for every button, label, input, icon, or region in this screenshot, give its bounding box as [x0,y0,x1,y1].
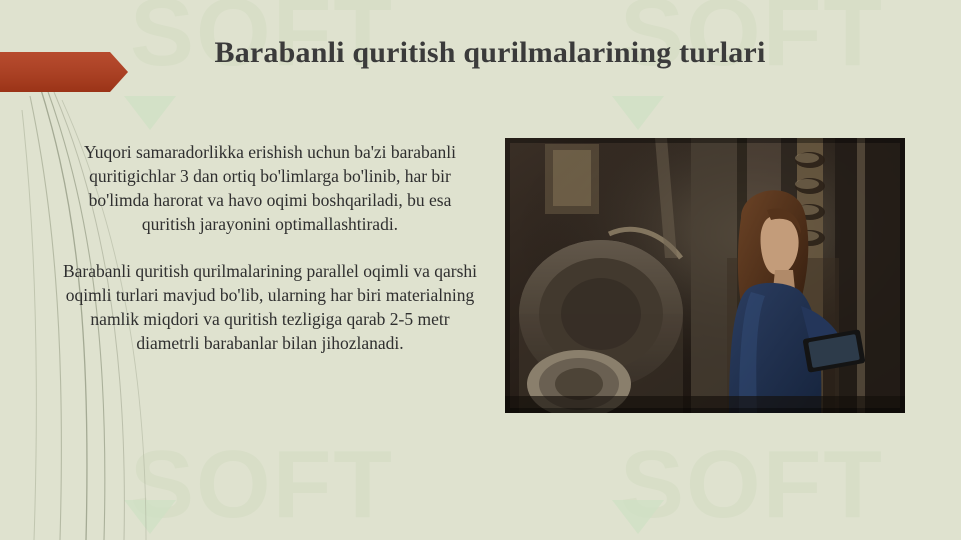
slide-root: SOFT SOFT SOFT SOFT Barabanli quritish q… [0,0,961,540]
chevron-down-icon [124,500,176,534]
paragraph-2: Barabanli quritish qurilmalarining paral… [60,259,480,356]
ribbon-accent [0,52,128,92]
photo-illustration [505,138,905,413]
body-text-block: Yuqori samaradorlikka erishish uchun ba'… [60,140,480,355]
chevron-down-icon [612,96,664,130]
watermark-text: SOFT [130,430,394,540]
paragraph-1: Yuqori samaradorlikka erishish uchun ba'… [60,140,480,237]
slide-photo [505,138,905,413]
page-title: Barabanli quritish qurilmalarining turla… [140,36,840,70]
chevron-down-icon [124,96,176,130]
chevron-down-icon [612,500,664,534]
watermark-text: SOFT [620,430,884,540]
